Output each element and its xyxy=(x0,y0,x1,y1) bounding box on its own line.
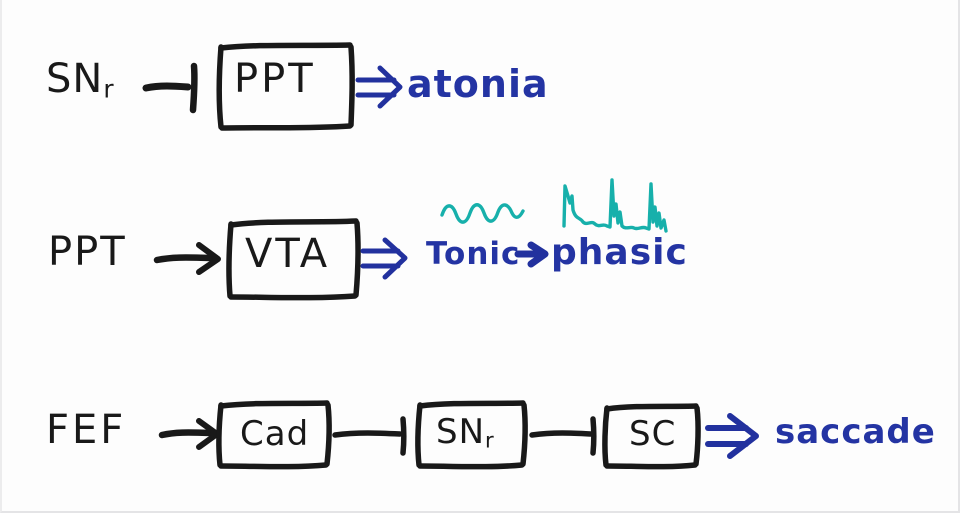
connector-fef-to-cad-arrow xyxy=(162,421,217,447)
connector-ppt-to-vta-arrow xyxy=(157,245,218,272)
box-label-sc: SC xyxy=(629,414,676,454)
connector-snr-to-sc-inhibitory xyxy=(532,419,594,453)
box-label-snr: SNr xyxy=(436,412,494,453)
connector-cad-to-snr-inhibitory xyxy=(335,419,404,453)
label-ppt-source: PPT xyxy=(48,229,127,275)
waveform-tonic xyxy=(442,205,523,222)
box-label-cad: Cad xyxy=(240,414,309,454)
output-label-tonic: Tonic xyxy=(426,236,520,272)
output-label-atonia: atonia xyxy=(407,62,549,106)
label-fef-source: FEF xyxy=(46,407,126,453)
double-arrow-ppt-atonia xyxy=(358,68,400,106)
double-arrow-sc-saccade xyxy=(708,416,756,456)
double-arrow-vta-tonic xyxy=(363,240,405,277)
connector-snr-to-ppt-inhibitory xyxy=(146,66,194,110)
box-label-vta: VTA xyxy=(245,231,330,277)
output-label-saccade: saccade xyxy=(775,412,936,452)
label-snr-source: SNr xyxy=(46,56,114,103)
output-label-phasic: phasic xyxy=(551,232,688,273)
box-label-ppt: PPT xyxy=(234,56,316,102)
waveform-phasic xyxy=(564,180,666,231)
arrow-tonic-to-phasic xyxy=(518,245,545,264)
whiteboard-canvas: SNr PPT atonia PPT VTA Tonic phasic FEF … xyxy=(0,0,960,513)
